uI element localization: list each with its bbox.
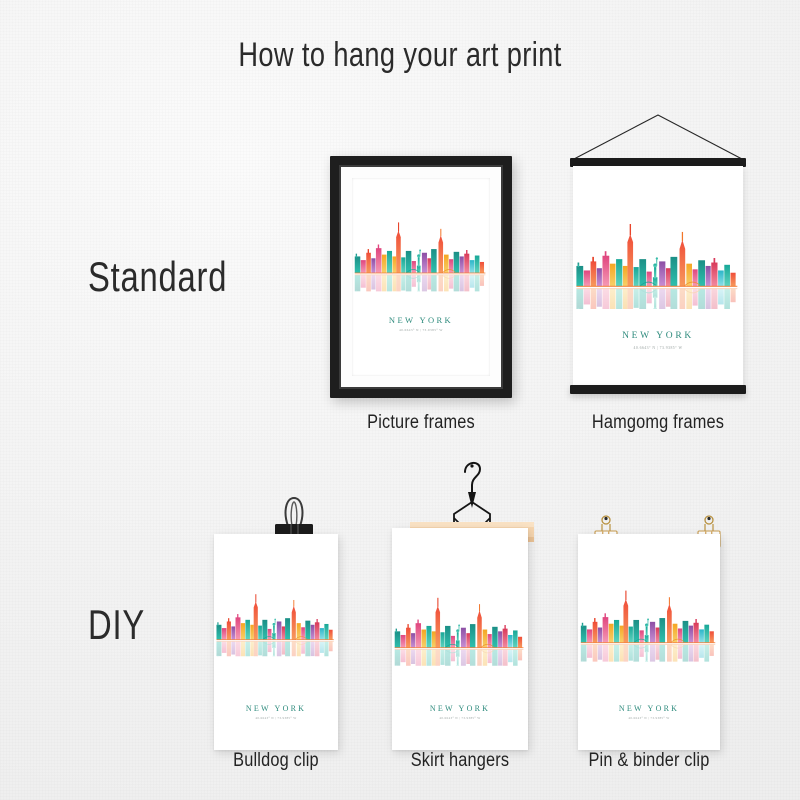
- poster-skirt-hangers[interactable]: NEW YORK 40.6643° N | 73.9385° W: [392, 528, 528, 750]
- skyline-artwork: [573, 200, 743, 316]
- artwork-city-name: NEW YORK: [392, 704, 528, 713]
- caption-skirt-hangers: Skirt hangers: [402, 750, 519, 772]
- artwork-coordinates: 40.6643° N | 73.9385° W: [578, 716, 720, 720]
- skyline-artwork: [214, 564, 338, 674]
- picture-frame[interactable]: NEW YORK 40.6643° N | 73.9385° W: [330, 156, 512, 398]
- artwork-coordinates: 40.6643° N | 73.9385° W: [392, 716, 528, 720]
- caption-pin-binder-clip: Pin & binder clip: [588, 750, 710, 772]
- artwork-coordinates: 40.6643° N | 73.9385° W: [214, 716, 338, 720]
- section-label-diy: DIY: [88, 601, 145, 649]
- caption-bulldog-clip: Bulldog clip: [223, 750, 330, 772]
- hanging-bar-bottom: [570, 385, 746, 394]
- skyline-artwork: [578, 564, 720, 674]
- artwork-city-name: NEW YORK: [578, 704, 720, 713]
- hanging-cord: [570, 112, 746, 160]
- skyline-artwork: [392, 568, 528, 682]
- frame-artwork-window: NEW YORK 40.6643° N | 73.9385° W: [352, 178, 490, 376]
- artwork-city-name: NEW YORK: [573, 331, 743, 341]
- section-label-standard: Standard: [88, 253, 227, 301]
- caption-hamgomg-frames: Hamgomg frames: [582, 412, 733, 434]
- artwork-city-name: NEW YORK: [352, 315, 490, 325]
- poster-bulldog-clip[interactable]: NEW YORK 40.6643° N | 73.9385° W: [214, 534, 338, 750]
- hanging-poster-sheet: NEW YORK 40.6643° N | 73.9385° W: [573, 166, 743, 387]
- skyline-artwork: [352, 204, 490, 296]
- caption-picture-frames: Picture frames: [343, 412, 500, 434]
- artwork-coordinates: 40.6643° N | 73.9385° W: [352, 328, 490, 332]
- hanging-frame[interactable]: NEW YORK 40.6643° N | 73.9385° W: [570, 112, 746, 400]
- artwork-city-name: NEW YORK: [214, 704, 338, 713]
- artwork-coordinates: 40.6643° N | 73.9385° W: [573, 346, 743, 350]
- poster-pin-binder-clip[interactable]: NEW YORK 40.6643° N | 73.9385° W: [578, 534, 720, 750]
- page-title: How to hang your art print: [80, 36, 720, 75]
